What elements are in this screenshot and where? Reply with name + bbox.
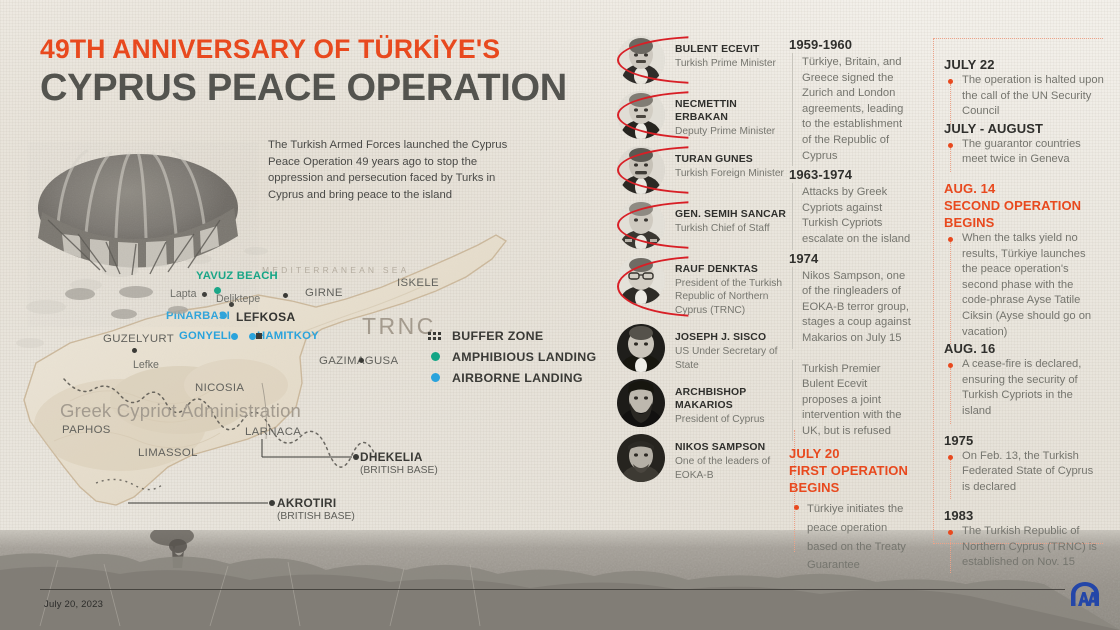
map-dot-guzelyurt bbox=[132, 348, 137, 353]
legend-label-buffer-zone: BUFFER ZONE bbox=[452, 329, 543, 343]
timeline-bullet: The Turkish Republic of Northern Cyprus … bbox=[948, 524, 1104, 571]
timeline-bullet: The operation is halted upon the call of… bbox=[948, 73, 1104, 120]
legend-label-amphibious: AMPHIBIOUS LANDING bbox=[452, 350, 596, 364]
buffer-zone-dash-icon bbox=[428, 332, 452, 340]
person-card: NECMETTIN ERBAKAN Deputy Prime Minister bbox=[617, 91, 787, 139]
map-label-nicosia: NICOSIA bbox=[195, 382, 244, 394]
timeline-text: The guarantor countries meet twice in Ge… bbox=[962, 137, 1104, 168]
timeline-text: Türkiye initiates the peace operation ba… bbox=[807, 503, 906, 571]
person-role: US Under Secretary of State bbox=[675, 345, 787, 372]
timeline-date-orange: JULY 20 bbox=[789, 445, 911, 462]
map-label-iskele: ISKELE bbox=[397, 277, 439, 289]
timeline-entry: 1975 On Feb. 13, the Turkish Federated S… bbox=[944, 432, 1104, 496]
timeline-bullet: Türkiye initiates the peace operation ba… bbox=[794, 499, 911, 573]
footer-date: July 20, 2023 bbox=[44, 599, 103, 610]
avatar bbox=[617, 379, 665, 427]
avatar bbox=[617, 201, 665, 249]
person-role: President of Cyprus bbox=[675, 413, 787, 426]
timeline-text: A cease-fire is declared, ensuring the s… bbox=[962, 357, 1104, 419]
timeline-text: Türkiye, Britain, and Greece signed the … bbox=[792, 53, 911, 166]
footer-divider bbox=[40, 589, 1065, 590]
timeline-year: 1959-1960 bbox=[789, 36, 911, 53]
person-role: Turkish Chief of Staff bbox=[675, 222, 786, 235]
map-label-limassol: LIMASSOL bbox=[138, 447, 198, 459]
timeline-entry: 1983 The Turkish Republic of Northern Cy… bbox=[944, 507, 1104, 571]
person-card: GEN. SEMIH SANCAR Turkish Chief of Staff bbox=[617, 201, 787, 249]
map-square-lefkosa bbox=[256, 333, 262, 339]
page-title: CYPRUS PEACE OPERATION bbox=[40, 68, 567, 109]
person-card: TURAN GUNES Turkish Foreign Minister bbox=[617, 146, 787, 194]
person-name: NECMETTIN ERBAKAN bbox=[675, 98, 787, 124]
timeline-entry: AUG. 16 A cease-fire is declared, ensuri… bbox=[944, 340, 1104, 419]
map-label-larnaca: LARNACA bbox=[245, 426, 301, 438]
airborne-dot-icon bbox=[428, 373, 452, 382]
avatar bbox=[617, 36, 665, 84]
avatar bbox=[617, 434, 665, 482]
timeline-subhead-orange: FIRST OPERATION BEGINS bbox=[789, 462, 911, 496]
timeline-text: Attacks by Greek Cypriots against Turkis… bbox=[792, 183, 911, 249]
person-card: NIKOS SAMPSON One of the leaders of EOKA… bbox=[617, 434, 787, 482]
timeline-text: Nikos Sampson, one of the ringleaders of… bbox=[792, 267, 911, 349]
map-label-dhekelia-sub: (BRITISH BASE) bbox=[360, 465, 438, 476]
avatar bbox=[617, 146, 665, 194]
timeline-date-orange: AUG. 14 bbox=[944, 180, 1104, 197]
timeline-date: 1983 bbox=[944, 507, 1104, 524]
map-label-akrotiri-sub: (BRITISH BASE) bbox=[277, 511, 355, 522]
person-name: RAUF DENKTAS bbox=[675, 263, 787, 276]
timeline-text: When the talks yield no results, Türkiye… bbox=[962, 231, 1104, 340]
map-dot-girne bbox=[283, 293, 288, 298]
map-label-lefke: Lefke bbox=[133, 359, 159, 371]
timeline-date: 1975 bbox=[944, 432, 1104, 449]
avatar bbox=[617, 91, 665, 139]
timeline-bullet: A cease-fire is declared, ensuring the s… bbox=[948, 357, 1104, 419]
timeline-entry-highlight: AUG. 14 SECOND OPERATION BEGINS When the… bbox=[944, 180, 1104, 340]
legend-row-airborne: AIRBORNE LANDING bbox=[428, 367, 596, 388]
timeline-date: AUG. 16 bbox=[944, 340, 1104, 357]
map-label-paphos: PAPHOS bbox=[62, 424, 111, 436]
timeline-year: 1963-1974 bbox=[789, 166, 911, 183]
map-label-dhekelia: DHEKELIA bbox=[360, 450, 423, 464]
spacer bbox=[944, 420, 1104, 432]
legend-label-airborne: AIRBORNE LANDING bbox=[452, 371, 583, 385]
person-role: Turkish Foreign Minister bbox=[675, 167, 784, 180]
avatar bbox=[617, 256, 665, 304]
timeline-text: Turkish Premier Bulent Ecevit proposes a… bbox=[792, 360, 911, 442]
timeline-entry: 1959-1960 Türkiye, Britain, and Greece s… bbox=[789, 36, 911, 166]
map-label-guzelyurt: GUZELYURT bbox=[103, 333, 174, 345]
timeline-text: On Feb. 13, the Turkish Federated State … bbox=[962, 449, 1104, 496]
timeline-bullet: On Feb. 13, the Turkish Federated State … bbox=[948, 449, 1104, 496]
map-label-akrotiri: AKROTIRI bbox=[277, 496, 336, 510]
timeline-text: The Turkish Republic of Northern Cyprus … bbox=[962, 524, 1104, 571]
timeline-year: 1974 bbox=[789, 250, 911, 267]
timeline-entry-highlight: JULY 20 FIRST OPERATION BEGINS Türkiye i… bbox=[789, 445, 911, 573]
timeline-entry: 1963-1974 Attacks by Greek Cypriots agai… bbox=[789, 166, 911, 249]
map-dot-gazimagusa bbox=[359, 358, 364, 363]
map-label-sea: MEDITERRANEAN SEA bbox=[262, 265, 409, 275]
person-name: BULENT ECEVIT bbox=[675, 43, 776, 56]
timeline-entry: 1974 Nikos Sampson, one of the ringleade… bbox=[789, 250, 911, 349]
intro-paragraph: The Turkish Armed Forces launched the Cy… bbox=[268, 137, 513, 203]
legend-row-amphibious: AMPHIBIOUS LANDING bbox=[428, 346, 596, 367]
aa-logo-icon bbox=[1068, 581, 1102, 612]
map-legend: BUFFER ZONE AMPHIBIOUS LANDING AIRBORNE … bbox=[428, 325, 596, 388]
map-label-hamitkoy: HAMITKOY bbox=[257, 330, 319, 342]
person-name: NIKOS SAMPSON bbox=[675, 441, 787, 454]
person-role: President of the Turkish Republic of Nor… bbox=[675, 277, 787, 317]
map-label-gonyeli: GONYELI bbox=[179, 330, 231, 342]
map-dot-hamitkoy bbox=[249, 333, 256, 340]
timeline-entry: JULY - AUGUST The guarantor countries me… bbox=[944, 120, 1104, 168]
person-name: JOSEPH J. SISCO bbox=[675, 331, 787, 344]
person-name: GEN. SEMIH SANCAR bbox=[675, 208, 786, 221]
person-role: One of the leaders of EOKA-B bbox=[675, 455, 787, 482]
person-card: RAUF DENKTAS President of the Turkish Re… bbox=[617, 256, 787, 317]
timeline-right: JULY 22 The operation is halted upon the… bbox=[944, 56, 1104, 571]
spacer bbox=[944, 495, 1104, 507]
person-role: Deputy Prime Minister bbox=[675, 125, 787, 138]
timeline-text: The operation is halted upon the call of… bbox=[962, 73, 1104, 120]
infographic-page: 49TH ANNIVERSARY OF TÜRKİYE'S CYPRUS PEA… bbox=[0, 0, 1120, 630]
spacer bbox=[944, 168, 1104, 180]
timeline-bullet: The guarantor countries meet twice in Ge… bbox=[948, 137, 1104, 168]
map-label-trnc: TRNC bbox=[362, 313, 436, 340]
timeline-bullet: When the talks yield no results, Türkiye… bbox=[948, 231, 1104, 340]
timeline-entry: Turkish Premier Bulent Ecevit proposes a… bbox=[789, 360, 911, 442]
map-dot-gonyeli bbox=[231, 333, 238, 340]
map-label-girne: GIRNE bbox=[305, 287, 343, 299]
person-role: Turkish Prime Minister bbox=[675, 57, 776, 70]
parachute-photo bbox=[28, 142, 258, 327]
person-card: BULENT ECEVIT Turkish Prime Minister bbox=[617, 36, 787, 84]
person-card: JOSEPH J. SISCO US Under Secretary of St… bbox=[617, 324, 787, 372]
map-label-gca: Greek Cypriot Administration bbox=[60, 400, 301, 422]
timeline-date: JULY - AUGUST bbox=[944, 120, 1104, 137]
timeline-date: JULY 22 bbox=[944, 56, 1104, 73]
timeline-entry: JULY 22 The operation is halted upon the… bbox=[944, 56, 1104, 120]
legend-row-buffer-zone: BUFFER ZONE bbox=[428, 325, 596, 346]
person-name: ARCHBISHOP MAKARIOS bbox=[675, 386, 787, 412]
avatar bbox=[617, 324, 665, 372]
timeline-subhead-orange: SECOND OPERATION BEGINS bbox=[944, 197, 1104, 231]
header: 49TH ANNIVERSARY OF TÜRKİYE'S CYPRUS PEA… bbox=[40, 36, 567, 109]
person-name: TURAN GUNES bbox=[675, 153, 784, 166]
amphibious-dot-icon bbox=[428, 352, 452, 361]
person-card: ARCHBISHOP MAKARIOS President of Cyprus bbox=[617, 379, 787, 427]
title-eyebrow: 49TH ANNIVERSARY OF TÜRKİYE'S bbox=[40, 36, 567, 64]
timeline-middle: 1959-1960 Türkiye, Britain, and Greece s… bbox=[789, 36, 911, 574]
people-list: BULENT ECEVIT Turkish Prime Minister NEC… bbox=[617, 36, 787, 489]
